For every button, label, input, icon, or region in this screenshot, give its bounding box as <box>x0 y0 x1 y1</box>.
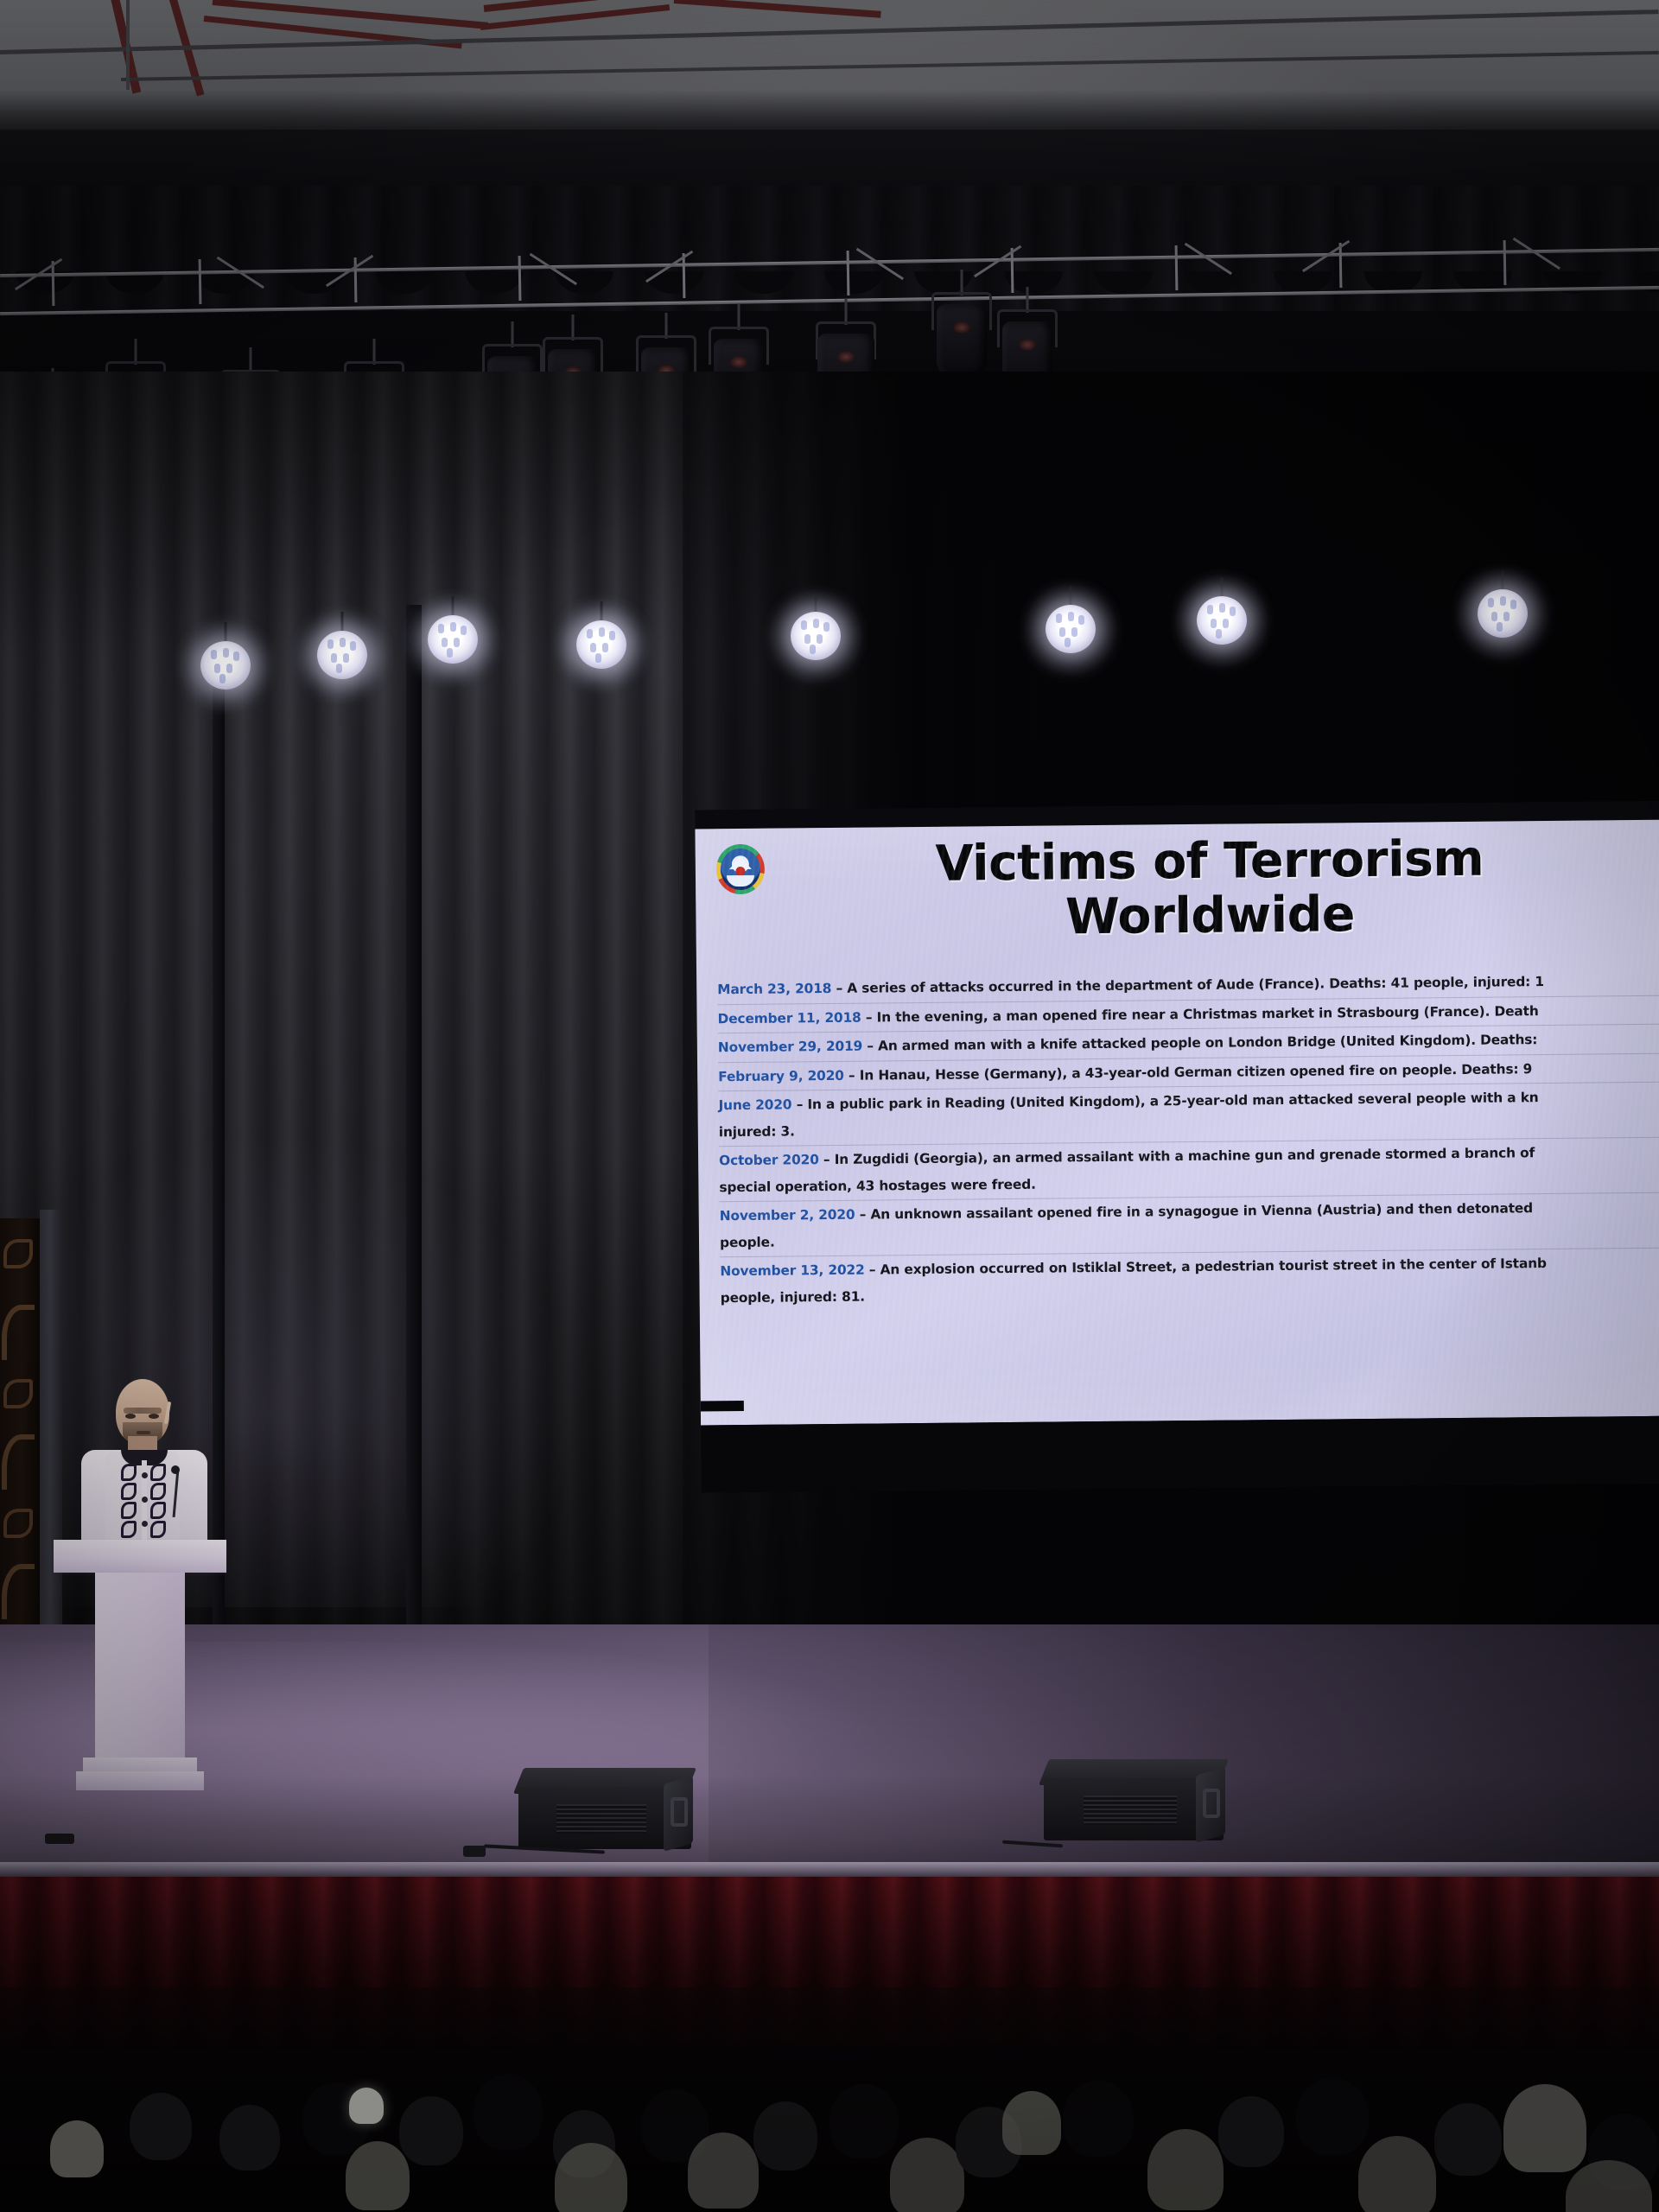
led-par-light <box>576 620 626 671</box>
entry-text: – A series of attacks occurred in the de… <box>831 974 1544 996</box>
entry-text: – In the evening, a man opened fire near… <box>861 1003 1539 1026</box>
entry-text: – An armed man with a knife attacked peo… <box>862 1032 1537 1053</box>
embroidery-panel-right <box>150 1464 166 1540</box>
speaker-head <box>116 1379 169 1445</box>
shirt-button <box>142 1472 148 1478</box>
entry-text: – An explosion occurred on Istiklal Stre… <box>865 1255 1547 1278</box>
led-par-light <box>1046 605 1096 655</box>
entry-text: – In Zugdidi (Georgia), an armed assaila… <box>819 1145 1535 1167</box>
presentation-slide: Victims of Terrorism Worldwide March 23,… <box>695 820 1659 1426</box>
shirt-button <box>142 1497 148 1503</box>
slide-title: Victims of Terrorism Worldwide <box>808 830 1612 947</box>
speaker-person <box>79 1379 209 1543</box>
entry-date: November 2, 2020 <box>720 1207 855 1224</box>
podium-column <box>95 1573 185 1761</box>
emblem-logo <box>716 844 766 895</box>
podium-foot <box>76 1771 204 1790</box>
entry-date: December 11, 2018 <box>717 1009 861 1027</box>
led-par-light <box>1197 596 1247 646</box>
cable-plug <box>463 1846 486 1857</box>
floor-monitor-speaker <box>518 1768 691 1854</box>
entry-date: March 23, 2018 <box>717 981 831 997</box>
podium <box>54 1540 226 1799</box>
slide-body: March 23, 2018 – A series of attacks occ… <box>717 968 1659 1314</box>
entry-date: February 9, 2020 <box>718 1067 844 1084</box>
entry-date: June 2020 <box>718 1096 791 1113</box>
entry-text: – In a public park in Reading (United Ki… <box>791 1090 1538 1112</box>
embroidery-panel-left <box>121 1464 137 1540</box>
slide-title-line2: Worldwide <box>808 885 1612 947</box>
entry-text: – An unknown assailant opened fire in a … <box>855 1200 1533 1223</box>
led-par-light <box>317 631 367 681</box>
led-par-light <box>200 641 251 691</box>
projection-screen: Victims of Terrorism Worldwide March 23,… <box>695 801 1659 1493</box>
lighting-truss <box>0 259 1659 309</box>
stage-spotlight <box>930 292 994 382</box>
lapel-mic-head <box>171 1465 180 1474</box>
masking-leg <box>406 605 422 1668</box>
stage-cable-plug <box>45 1834 74 1844</box>
shirt-button <box>142 1521 148 1527</box>
slide-title-line1: Victims of Terrorism <box>808 830 1612 893</box>
masking-leg <box>213 665 225 1668</box>
screen-corner-notch <box>701 1401 744 1411</box>
entry-date: October 2020 <box>719 1152 819 1168</box>
floor-monitor-speaker <box>1044 1759 1224 1847</box>
led-par-light <box>1478 589 1528 639</box>
led-par-light <box>791 612 841 662</box>
entry-date: November 29, 2019 <box>718 1039 862 1056</box>
entry-text: – In Hanau, Hesse (Germany), a 43-year-o… <box>844 1061 1533 1084</box>
screen-lower-border <box>701 1416 1659 1493</box>
stage-scene: Victims of Terrorism Worldwide March 23,… <box>0 0 1659 2212</box>
led-par-light <box>428 615 478 665</box>
audience-silhouettes <box>0 1987 1659 2212</box>
podium-ledge <box>54 1540 226 1573</box>
entry-date: November 13, 2022 <box>720 1262 864 1280</box>
